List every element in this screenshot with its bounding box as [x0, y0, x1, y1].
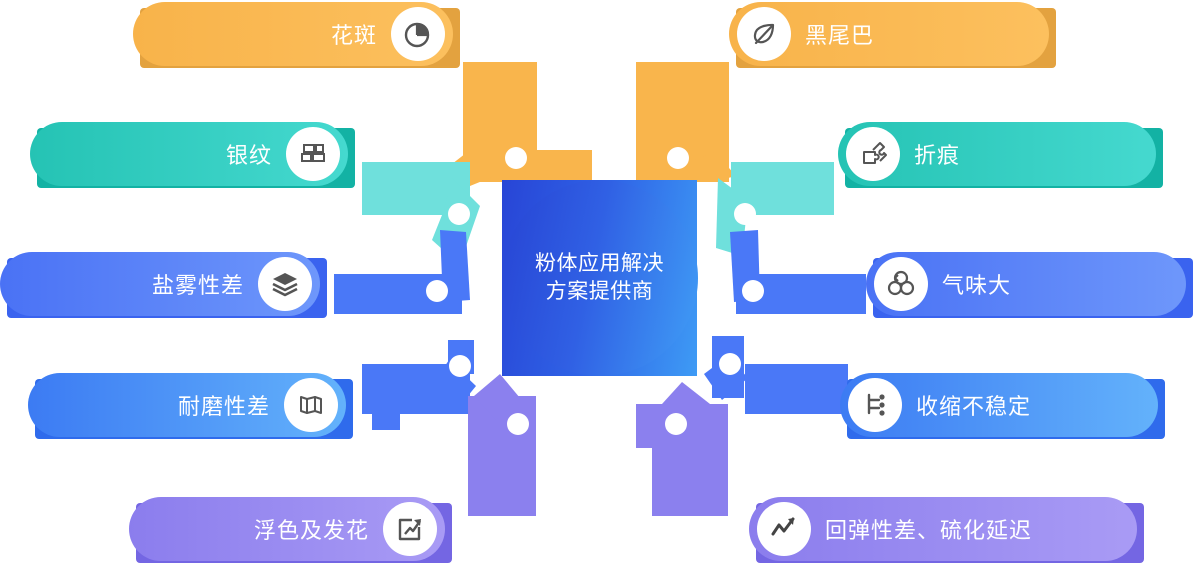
center-label: 粉体应用解决 方案提供商	[535, 250, 664, 305]
connector-node-huaban	[452, 62, 592, 186]
node-fuse-label: 浮色及发花	[254, 513, 369, 545]
recycle-icon	[874, 257, 928, 311]
node-naimo[interactable]: 耐磨性差	[28, 373, 346, 437]
node-fuse[interactable]: 浮色及发花	[129, 497, 445, 561]
node-zhehen[interactable]: 折痕	[838, 122, 1156, 186]
node-huitan-label: 回弹性差、硫化延迟	[825, 513, 1032, 545]
layers-icon	[258, 257, 312, 311]
connector-node-qiweida	[730, 230, 866, 314]
node-heiweiba[interactable]: 黑尾巴	[729, 2, 1049, 66]
connector-node-naimo	[362, 340, 476, 430]
node-shousuo-label: 收缩不稳定	[916, 389, 1031, 421]
node-yanwu[interactable]: 盐雾性差	[0, 252, 320, 316]
node-heiweiba-label: 黑尾巴	[805, 18, 874, 50]
node-huaban[interactable]: 花斑	[133, 2, 453, 66]
infographic-canvas: 粉体应用解决 方案提供商 花斑 黑尾巴 银纹	[0, 0, 1193, 577]
brick-wall-icon	[286, 127, 340, 181]
node-yanwu-label: 盐雾性差	[152, 268, 244, 300]
node-yinwen-label: 银纹	[226, 138, 272, 170]
center-circle: 粉体应用解决 方案提供商	[502, 180, 698, 376]
node-naimo-label: 耐磨性差	[178, 389, 270, 421]
center-hub: 粉体应用解决 方案提供商	[502, 180, 697, 376]
connector-node-yanwu	[334, 230, 470, 314]
connector-node-huitan	[636, 382, 728, 516]
pie-chart-icon	[391, 7, 445, 61]
node-qiweida-label: 气味大	[942, 268, 1011, 300]
line-chart-icon	[757, 502, 811, 556]
puzzle-piece-icon	[846, 127, 900, 181]
chart-growth-icon	[383, 502, 437, 556]
connector-node-heiweiba	[636, 62, 736, 182]
node-qiweida[interactable]: 气味大	[866, 252, 1186, 316]
open-book-icon	[284, 378, 338, 432]
node-huitan[interactable]: 回弹性差、硫化延迟	[749, 497, 1137, 561]
sitemap-icon	[848, 378, 902, 432]
node-yinwen[interactable]: 银纹	[30, 122, 348, 186]
connector-node-fuse	[468, 374, 536, 516]
leaf-icon	[737, 7, 791, 61]
node-huaban-label: 花斑	[331, 18, 377, 50]
node-zhehen-label: 折痕	[914, 138, 960, 170]
connector-node-shousuo	[704, 336, 848, 414]
node-shousuo[interactable]: 收缩不稳定	[840, 373, 1158, 437]
